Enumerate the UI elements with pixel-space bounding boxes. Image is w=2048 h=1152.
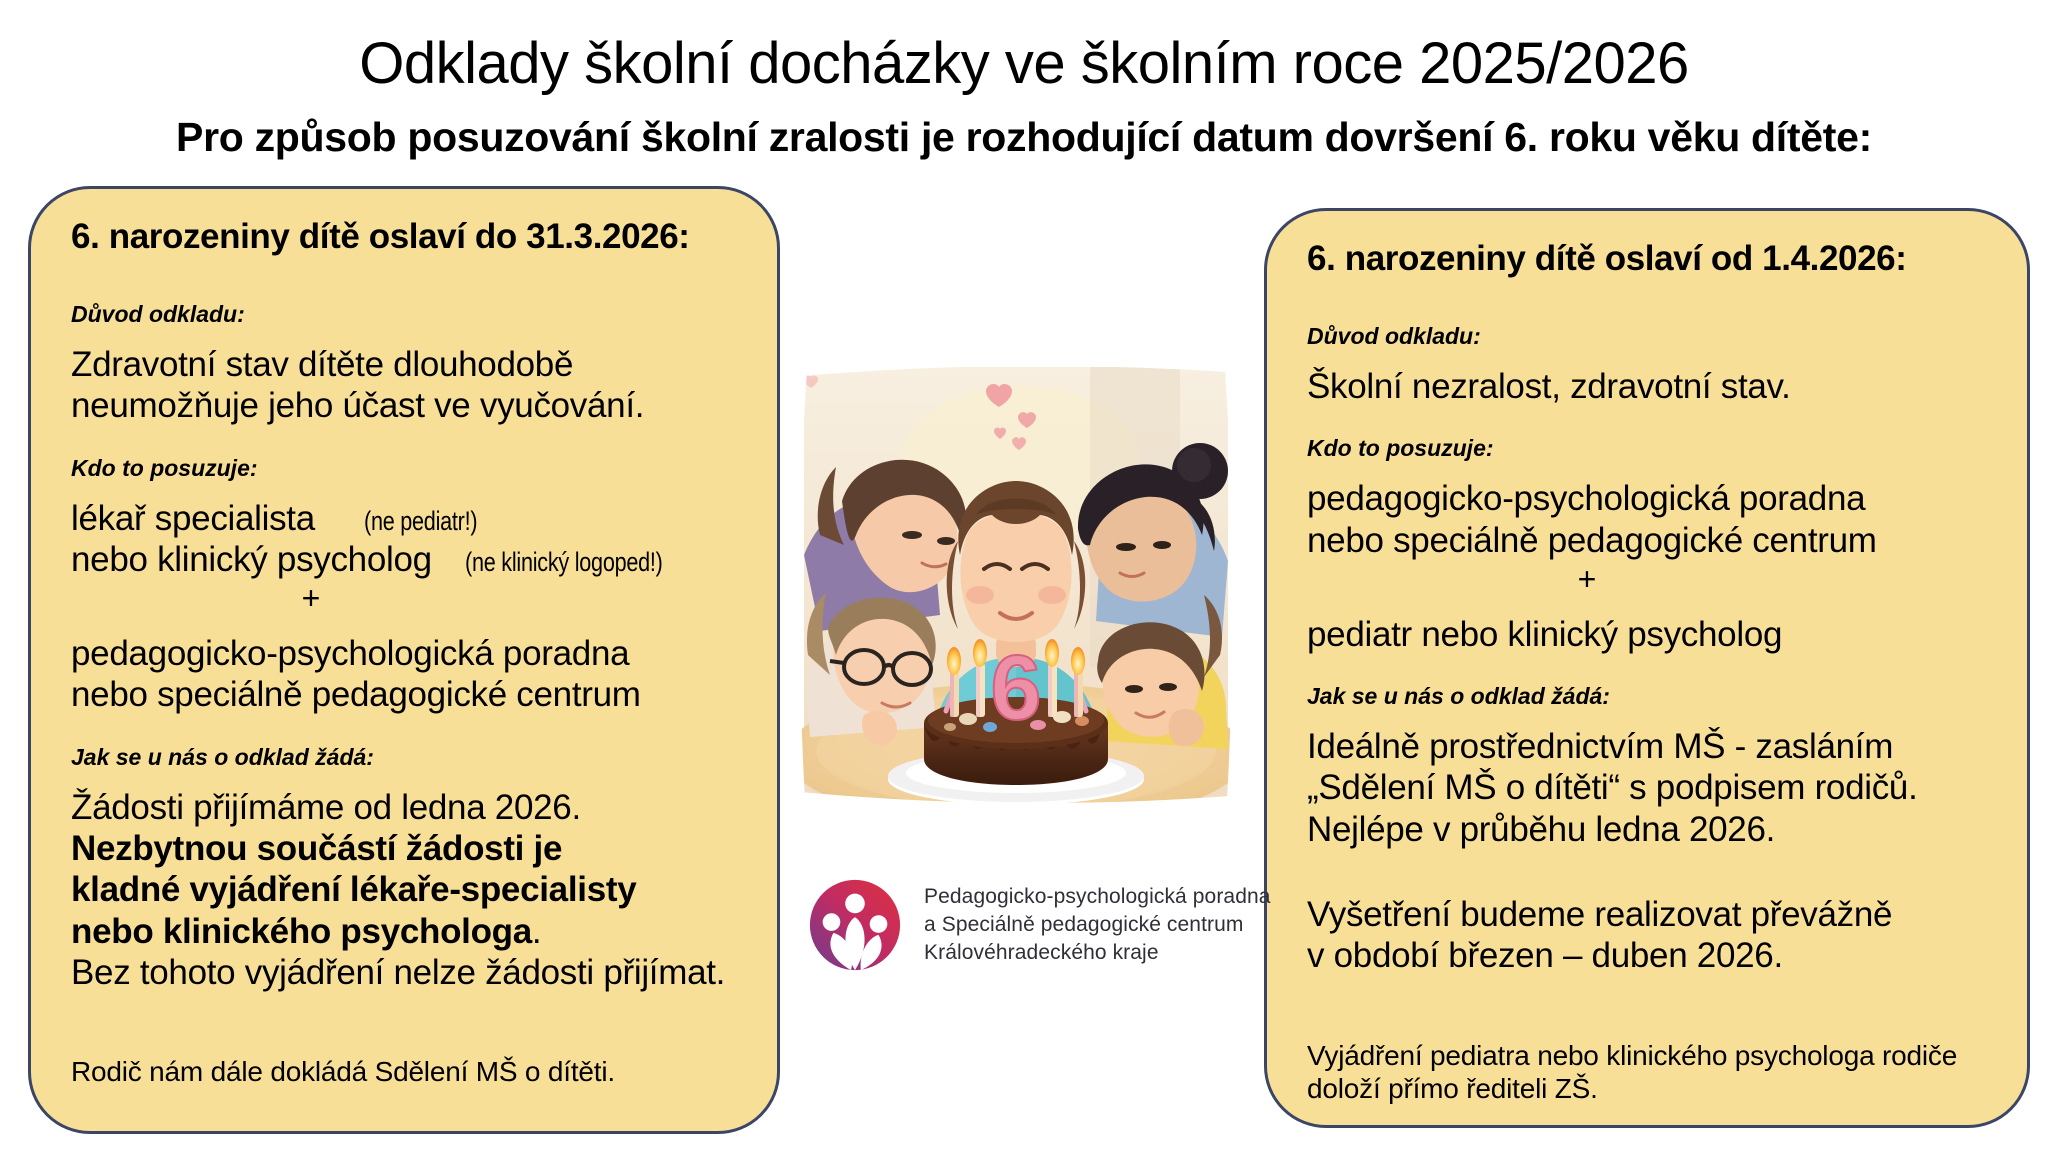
right-assessor-line-2: nebo speciálně pedagogické centrum — [1307, 520, 1993, 561]
right-request-line-3: Nejlépe v průběhu ledna 2026. — [1307, 809, 1993, 850]
left-assessor-line-3: pedagogicko-psychologická poradna — [71, 633, 743, 674]
svg-text:6: 6 — [990, 637, 1041, 739]
spacer — [71, 328, 743, 344]
birthday-illustration: 6 6 — [790, 355, 1242, 817]
logo-line-2: a Speciálně pedagogické centrum — [924, 911, 1271, 939]
left-request-line-2: Bez tohoto vyjádření nelze žádosti přijí… — [71, 952, 743, 993]
right-request-line-1: Ideálně prostřednictvím MŠ - zasláním — [1307, 726, 1993, 767]
left-reason-line-1: Zdravotní stav dítěte dlouhodobě — [71, 344, 743, 385]
right-plus-symbol: + — [1307, 561, 1867, 598]
spacer — [1307, 462, 1993, 478]
left-assessor-label: Kdo to posuzuje: — [71, 455, 743, 482]
spacer — [1307, 710, 1993, 726]
right-reason-label: Důvod odkladu: — [1307, 323, 1993, 350]
panel-from-april-1: 6. narozeniny dítě oslaví od 1.4.2026: D… — [1264, 208, 2030, 1128]
logo-text-block: Pedagogicko-psychologická poradna a Spec… — [924, 883, 1271, 967]
panel-before-march-31: 6. narozeniny dítě oslaví do 31.3.2026: … — [28, 186, 780, 1134]
left-request-bold-2: kladné vyjádření lékaře-specialisty — [71, 869, 743, 910]
poster-root: Odklady školní docházky ve školním roce … — [0, 0, 2048, 1152]
left-assessor-note-2: (ne klinický logoped!) — [465, 547, 663, 579]
left-footer-line: Rodič nám dále dokládá Sdělení MŠ o dítě… — [71, 1055, 743, 1089]
right-assessor-line-3: pediatr nebo klinický psycholog — [1307, 614, 1993, 655]
spacer — [1307, 655, 1993, 683]
right-request-line-2: „Sdělení MŠ o dítěti“ s podpisem rodičů. — [1307, 767, 1993, 808]
candle-number-6: 6 6 — [990, 637, 1041, 739]
panel-right-content: 6. narozeniny dítě oslaví od 1.4.2026: D… — [1267, 211, 2027, 1125]
left-plus-symbol: + — [71, 580, 551, 617]
right-reason-line: Školní nezralost, zdravotní stav. — [1307, 366, 1993, 407]
left-reason-line-2: neumožňuje jeho účast ve vyučování. — [71, 385, 743, 426]
left-request-bold-3-row: nebo klinického psychologa. — [71, 911, 743, 952]
spacer — [71, 771, 743, 787]
page-subtitle: Pro způsob posuzování školní zralosti je… — [0, 114, 2048, 161]
spacer — [71, 716, 743, 744]
right-assessor-label: Kdo to posuzuje: — [1307, 435, 1993, 462]
spacer — [71, 993, 743, 1055]
right-footer-line-2: doloží přímo řediteli ZŠ. — [1307, 1072, 1993, 1106]
right-request-label: Jak se u nás o odklad žádá: — [1307, 683, 1993, 710]
spacer — [71, 257, 743, 301]
right-exam-line-2: v období březen – duben 2026. — [1307, 935, 1993, 976]
logo-line-3: Královéhradeckého kraje — [924, 939, 1271, 967]
spacer — [1307, 279, 1993, 323]
panel-left-content: 6. narozeniny dítě oslaví do 31.3.2026: … — [31, 189, 777, 1131]
organization-logo: Pedagogicko-psychologická poradna a Spec… — [806, 876, 1236, 986]
left-assessor-line-2: nebo klinický psycholog — [71, 540, 432, 579]
left-assessor-note-1: (ne pediatr!) — [364, 506, 477, 538]
ppp-logo-icon — [806, 876, 904, 974]
spacer — [1307, 977, 1993, 1039]
left-assessor-row-2: nebo klinický psycholog (ne klinický log… — [71, 539, 743, 580]
spacer — [1307, 350, 1993, 366]
spacer — [1307, 850, 1993, 894]
left-request-bold-3: nebo klinického psychologa — [71, 912, 532, 951]
spacer — [71, 617, 743, 633]
left-panel-heading: 6. narozeniny dítě oslaví do 31.3.2026: — [71, 217, 743, 257]
left-request-bold-3-period: . — [532, 912, 541, 951]
page-title: Odklady školní docházky ve školním roce … — [0, 30, 2048, 97]
spacer — [71, 427, 743, 455]
left-assessor-line-1: lékař specialista — [71, 499, 315, 538]
spacer — [71, 482, 743, 498]
right-footer-line-1: Vyjádření pediatra nebo klinického psych… — [1307, 1039, 1993, 1073]
logo-line-1: Pedagogicko-psychologická poradna — [924, 883, 1271, 911]
right-exam-line-1: Vyšetření budeme realizovat převážně — [1307, 894, 1993, 935]
spacer — [1307, 598, 1993, 614]
left-assessor-line-4: nebo speciálně pedagogické centrum — [71, 674, 743, 715]
right-panel-heading: 6. narozeniny dítě oslaví od 1.4.2026: — [1307, 239, 1993, 279]
spacer — [1307, 407, 1993, 435]
left-request-label: Jak se u nás o odklad žádá: — [71, 744, 743, 771]
left-reason-label: Důvod odkladu: — [71, 301, 743, 328]
left-request-bold-1: Nezbytnou součástí žádosti je — [71, 828, 743, 869]
right-assessor-line-1: pedagogicko-psychologická poradna — [1307, 478, 1993, 519]
left-request-line-1: Žádosti přijímáme od ledna 2026. — [71, 787, 743, 828]
left-assessor-row-1: lékař specialista (ne pediatr!) — [71, 498, 743, 539]
